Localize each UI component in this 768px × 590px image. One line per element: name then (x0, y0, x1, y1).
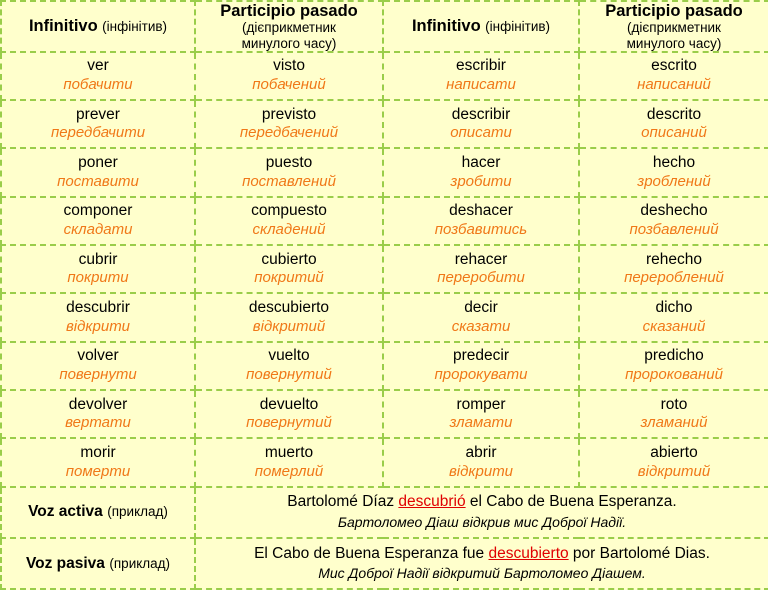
spanish-word: predicho (580, 347, 768, 366)
verb-cell-participle-right: dichoсказаний (579, 293, 768, 341)
ukrainian-translation: померти (2, 463, 194, 481)
verb-cell-infinitive-right: predecirпророкувати (383, 342, 579, 390)
spanish-word: dicho (580, 299, 768, 318)
ukrainian-translation: описати (384, 124, 578, 142)
spanish-word: muerto (196, 444, 382, 463)
spanish-word: cubrir (2, 251, 194, 270)
ukrainian-translation: зроблений (580, 173, 768, 191)
spanish-word: romper (384, 396, 578, 415)
verb-cell-participle-right: deshechoпозбавлений (579, 197, 768, 245)
ukrainian-translation: описаний (580, 124, 768, 142)
spanish-word: descubrir (2, 299, 194, 318)
verb-cell-infinitive-right: escribirнаписати (383, 52, 579, 100)
table-row: volverповернутиvueltoповернутийpredecirп… (1, 342, 768, 390)
verb-cell-infinitive-right: describirописати (383, 100, 579, 148)
voice-sentence-cell: Bartolomé Díaz descubrió el Cabo de Buen… (195, 487, 768, 538)
voice-sentence-suffix: por Bartolomé Dias. (569, 545, 710, 562)
ukrainian-translation: перероблений (580, 269, 768, 287)
header-infinitive-title-left: Infinitivo (29, 17, 98, 35)
spanish-word: deshecho (580, 202, 768, 221)
verb-cell-participle-left: muertoпомерлий (195, 438, 383, 486)
spanish-word: morir (2, 444, 194, 463)
ukrainian-translation: зламаний (580, 414, 768, 432)
verb-cell-infinitive-left: componerскладати (1, 197, 195, 245)
ukrainian-translation: складати (2, 221, 194, 239)
spanish-word: hacer (384, 154, 578, 173)
verb-cell-infinitive-right: decirсказати (383, 293, 579, 341)
verb-cell-participle-right: escritoнаписаний (579, 52, 768, 100)
verb-cell-infinitive-right: romperзламати (383, 390, 579, 438)
header-participle-title-left: Participio pasado (196, 2, 382, 20)
ukrainian-translation: передбачити (2, 124, 194, 142)
voice-note: (приклад) (109, 556, 170, 571)
verb-cell-infinitive-right: hacerзробити (383, 148, 579, 196)
ukrainian-translation: передбачений (196, 124, 382, 142)
voice-highlighted-verb: descubrió (398, 493, 465, 510)
ukrainian-translation: померлий (196, 463, 382, 481)
verb-cell-participle-right: predichoпророкований (579, 342, 768, 390)
header-participle-subtitle-line1-left: (дієприкметник (196, 20, 382, 35)
table-row: ponerпоставитиpuestoпоставленийhacerзроб… (1, 148, 768, 196)
spanish-word: devolver (2, 396, 194, 415)
spanish-word: hecho (580, 154, 768, 173)
verb-cell-participle-left: compuestoскладений (195, 197, 383, 245)
spanish-word: compuesto (196, 202, 382, 221)
spanish-word: devuelto (196, 396, 382, 415)
verb-cell-infinitive-left: preverпередбачити (1, 100, 195, 148)
ukrainian-translation: побачити (2, 76, 194, 94)
spanish-word: predecir (384, 347, 578, 366)
header-participle-title-right: Participio pasado (580, 2, 768, 20)
ukrainian-translation: написаний (580, 76, 768, 94)
spanish-word: abrir (384, 444, 578, 463)
voice-sentence-prefix: El Cabo de Buena Esperanza fue (254, 545, 488, 562)
verb-cell-infinitive-left: verпобачити (1, 52, 195, 100)
table-row: verпобачитиvistoпобаченийescribirнаписат… (1, 52, 768, 100)
header-infinitive-left: Infinitivo (інфінітив) (1, 1, 195, 52)
header-participle-subtitle-line2-left: минулого часу) (196, 36, 382, 51)
voice-ukrainian-sentence: Бартоломео Діаш відкрив мис Доброї Надії… (196, 513, 768, 532)
table-row: cubrirпокритиcubiertoпокритийrehacerпере… (1, 245, 768, 293)
verb-cell-infinitive-left: devolverвертати (1, 390, 195, 438)
header-participle-left: Participio pasado (дієприкметник минулог… (195, 1, 383, 52)
ukrainian-translation: пророкований (580, 366, 768, 384)
verb-cell-infinitive-right: rehacerпереробити (383, 245, 579, 293)
ukrainian-translation: вертати (2, 414, 194, 432)
ukrainian-translation: повернутий (196, 414, 382, 432)
ukrainian-translation: пророкувати (384, 366, 578, 384)
spanish-word: deshacer (384, 202, 578, 221)
table-row: morirпомертиmuertoпомерлийabrirвідкритиa… (1, 438, 768, 486)
voice-label-cell: Voz activa (приклад) (1, 487, 195, 538)
spanish-word: roto (580, 396, 768, 415)
ukrainian-translation: складений (196, 221, 382, 239)
verb-cell-participle-left: descubiertoвідкритий (195, 293, 383, 341)
spanish-word: descubierto (196, 299, 382, 318)
table-header-row: Infinitivo (інфінітив) Participio pasado… (1, 1, 768, 52)
ukrainian-translation: відкрити (2, 318, 194, 336)
spanish-word: rehecho (580, 251, 768, 270)
verb-cell-infinitive-right: deshacerпозбавитись (383, 197, 579, 245)
voice-ukrainian-sentence: Мис Доброї Надії відкритий Бартоломео Ді… (196, 564, 768, 583)
ukrainian-translation: відкритий (580, 463, 768, 481)
voice-rows-body: Voz activa (приклад)Bartolomé Díaz descu… (1, 487, 768, 589)
ukrainian-translation: зробити (384, 173, 578, 191)
spanish-word: abierto (580, 444, 768, 463)
ukrainian-translation: позбавлений (580, 221, 768, 239)
voice-example-row: Voz activa (приклад)Bartolomé Díaz descu… (1, 487, 768, 538)
verb-cell-infinitive-left: volverповернути (1, 342, 195, 390)
voice-spanish-sentence: Bartolomé Díaz descubrió el Cabo de Buen… (196, 492, 768, 513)
ukrainian-translation: позбавитись (384, 221, 578, 239)
spanish-word: volver (2, 347, 194, 366)
table-row: componerскладатиcompuestoскладенийdeshac… (1, 197, 768, 245)
spanish-word: poner (2, 154, 194, 173)
ukrainian-translation: сказаний (580, 318, 768, 336)
header-participle-right: Participio pasado (дієприкметник минулог… (579, 1, 768, 52)
voice-sentence-cell: El Cabo de Buena Esperanza fue descubier… (195, 538, 768, 589)
verb-cell-participle-right: descritoописаний (579, 100, 768, 148)
ukrainian-translation: повернути (2, 366, 194, 384)
voice-label-cell: Voz pasiva (приклад) (1, 538, 195, 589)
ukrainian-translation: поставити (2, 173, 194, 191)
spanish-word: puesto (196, 154, 382, 173)
verb-cell-participle-right: rehechoперероблений (579, 245, 768, 293)
ukrainian-translation: переробити (384, 269, 578, 287)
header-infinitive-subtitle-right: (інфінітив) (485, 19, 550, 34)
spanish-word: vuelto (196, 347, 382, 366)
verb-cell-participle-left: vistoпобачений (195, 52, 383, 100)
verb-cell-infinitive-left: cubrirпокрити (1, 245, 195, 293)
ukrainian-translation: написати (384, 76, 578, 94)
ukrainian-translation: покритий (196, 269, 382, 287)
verb-cell-participle-left: puestoпоставлений (195, 148, 383, 196)
spanish-word: decir (384, 299, 578, 318)
verb-cell-participle-right: abiertoвідкритий (579, 438, 768, 486)
ukrainian-translation: покрити (2, 269, 194, 287)
ukrainian-translation: відкрити (384, 463, 578, 481)
spanish-word: describir (384, 106, 578, 125)
verb-rows-body: verпобачитиvistoпобаченийescribirнаписат… (1, 52, 768, 487)
ukrainian-translation: сказати (384, 318, 578, 336)
verb-cell-participle-right: hechoзроблений (579, 148, 768, 196)
ukrainian-translation: побачений (196, 76, 382, 94)
voice-highlighted-verb: descubierto (488, 545, 568, 562)
verb-cell-infinitive-right: abrirвідкрити (383, 438, 579, 486)
table-row: preverпередбачитиprevistoпередбаченийdes… (1, 100, 768, 148)
verb-cell-participle-left: cubiertoпокритий (195, 245, 383, 293)
header-participle-subtitle-line2-right: минулого часу) (580, 36, 768, 51)
ukrainian-translation: повернутий (196, 366, 382, 384)
verb-conjugation-table: Infinitivo (інфінітив) Participio pasado… (0, 0, 768, 590)
voice-sentence-prefix: Bartolomé Díaz (287, 493, 398, 510)
spanish-word: previsto (196, 106, 382, 125)
table-row: devolverвертатиdevueltoповернутийromperз… (1, 390, 768, 438)
verb-cell-infinitive-left: morirпомерти (1, 438, 195, 486)
voice-note: (приклад) (107, 504, 168, 519)
verb-cell-participle-left: previstoпередбачений (195, 100, 383, 148)
header-infinitive-subtitle-left: (інфінітив) (102, 19, 167, 34)
spanish-word: prever (2, 106, 194, 125)
spanish-word: descrito (580, 106, 768, 125)
verb-cell-participle-left: devueltoповернутий (195, 390, 383, 438)
spanish-word: ver (2, 57, 194, 76)
voice-sentence-suffix: el Cabo de Buena Esperanza. (466, 493, 677, 510)
spanish-word: rehacer (384, 251, 578, 270)
voice-spanish-sentence: El Cabo de Buena Esperanza fue descubier… (196, 544, 768, 565)
header-participle-subtitle-line1-right: (дієприкметник (580, 20, 768, 35)
voice-example-row: Voz pasiva (приклад)El Cabo de Buena Esp… (1, 538, 768, 589)
spanish-word: escribir (384, 57, 578, 76)
verb-cell-infinitive-left: ponerпоставити (1, 148, 195, 196)
voice-name: Voz activa (28, 503, 103, 520)
ukrainian-translation: відкритий (196, 318, 382, 336)
header-infinitive-title-right: Infinitivo (412, 17, 481, 35)
spanish-word: cubierto (196, 251, 382, 270)
table-row: descubrirвідкритиdescubiertoвідкритийdec… (1, 293, 768, 341)
spanish-word: componer (2, 202, 194, 221)
voice-name: Voz pasiva (26, 555, 105, 572)
spanish-word: visto (196, 57, 382, 76)
verb-cell-participle-right: rotoзламаний (579, 390, 768, 438)
verb-cell-participle-left: vueltoповернутий (195, 342, 383, 390)
verb-cell-infinitive-left: descubrirвідкрити (1, 293, 195, 341)
ukrainian-translation: поставлений (196, 173, 382, 191)
header-infinitive-right: Infinitivo (інфінітив) (383, 1, 579, 52)
ukrainian-translation: зламати (384, 414, 578, 432)
spanish-word: escrito (580, 57, 768, 76)
